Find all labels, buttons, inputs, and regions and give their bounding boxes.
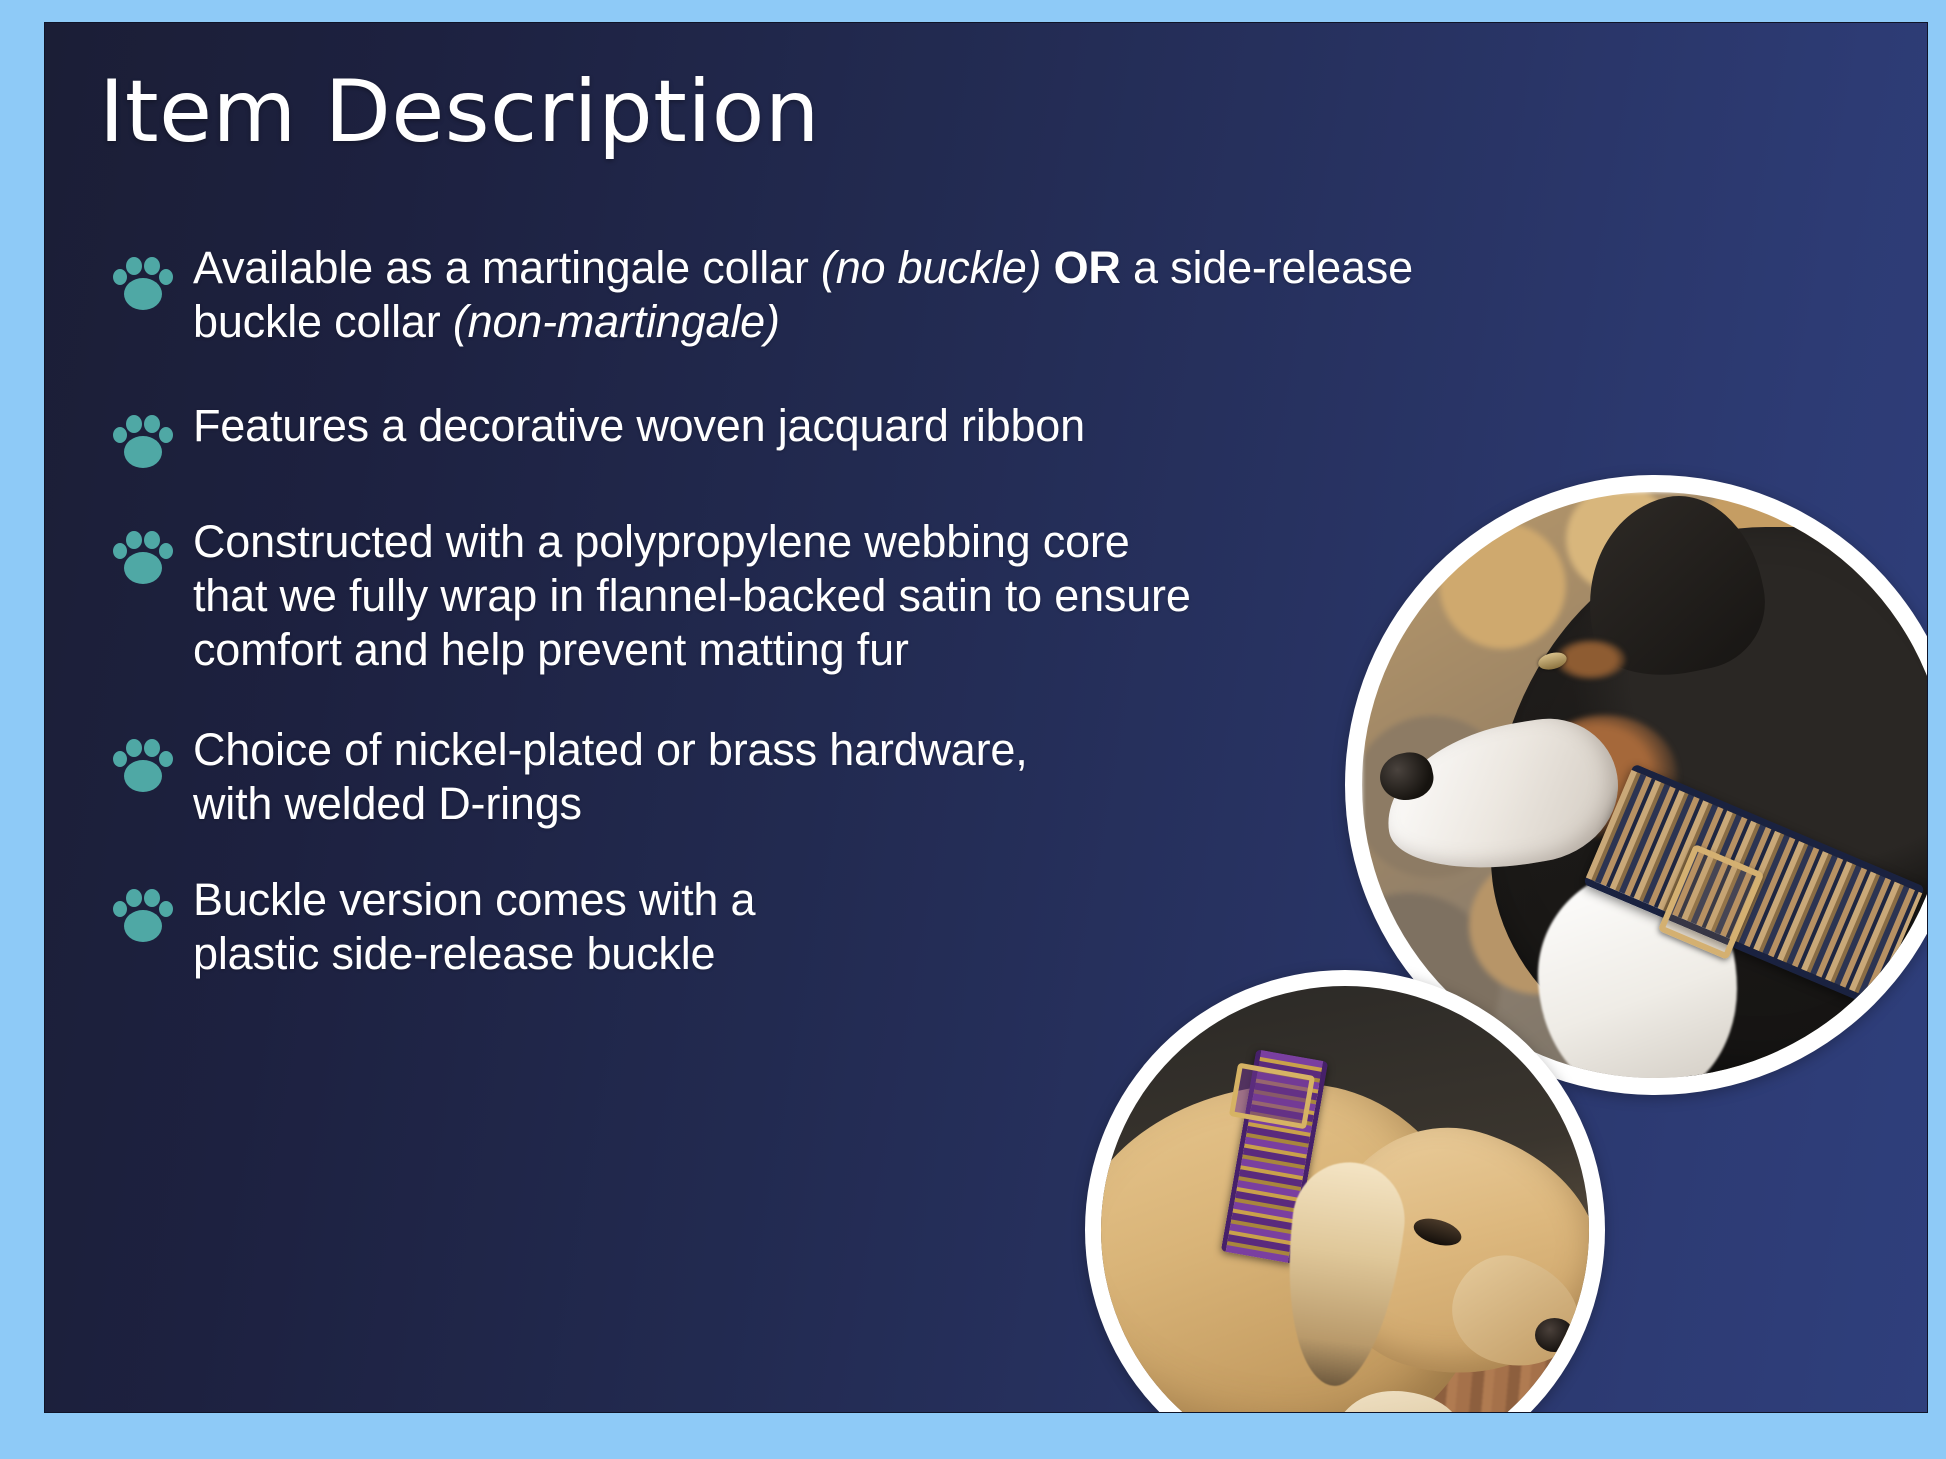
text-segment: Buckle version comes with a plastic side… (193, 874, 755, 979)
text-segment-italic: (no buckle) (821, 242, 1041, 293)
text-segment: Available as a martingale collar (193, 242, 821, 293)
bullet-marker (93, 239, 193, 311)
list-item-text: Available as a martingale collar (no buc… (193, 239, 1423, 349)
list-item: Buckle version comes with a plastic side… (93, 871, 1423, 981)
list-item-text: Choice of nickel-plated or brass hardwar… (193, 721, 1053, 831)
list-item: Choice of nickel-plated or brass hardwar… (93, 721, 1423, 831)
text-segment-italic: (non-martingale) (453, 296, 780, 347)
paw-print-icon (112, 253, 174, 311)
text-segment-bold: OR (1054, 242, 1121, 293)
bullet-marker (93, 513, 193, 585)
bullet-marker (93, 871, 193, 943)
slide-canvas: Item Description Available as a martinga… (44, 22, 1928, 1413)
list-item-text: Features a decorative woven jacquard rib… (193, 397, 1423, 453)
text-segment: Features a decorative woven jacquard rib… (193, 400, 1085, 451)
bullet-list: Available as a martingale collar (no buc… (93, 239, 1423, 981)
list-item-text: Constructed with a polypropylene webbing… (193, 513, 1193, 677)
page-title: Item Description (99, 69, 820, 155)
list-item: Features a decorative woven jacquard rib… (93, 397, 1423, 469)
list-item-text: Buckle version comes with a plastic side… (193, 871, 833, 981)
paw-print-icon (112, 411, 174, 469)
dog-photo-saluki-image (1101, 986, 1589, 1413)
dog-photo-saluki (1085, 970, 1605, 1413)
list-item: Available as a martingale collar (no buc… (93, 239, 1423, 349)
paw-print-icon (112, 527, 174, 585)
text-segment (1041, 242, 1053, 293)
slide-frame: Item Description Available as a martinga… (0, 0, 1946, 1459)
text-segment: Choice of nickel-plated or brass hardwar… (193, 724, 1028, 829)
paw-print-icon (112, 885, 174, 943)
list-item: Constructed with a polypropylene webbing… (93, 513, 1423, 677)
paw-print-icon (112, 735, 174, 793)
bullet-marker (93, 721, 193, 793)
text-segment: Constructed with a polypropylene webbing… (193, 516, 1191, 675)
bullet-marker (93, 397, 193, 469)
